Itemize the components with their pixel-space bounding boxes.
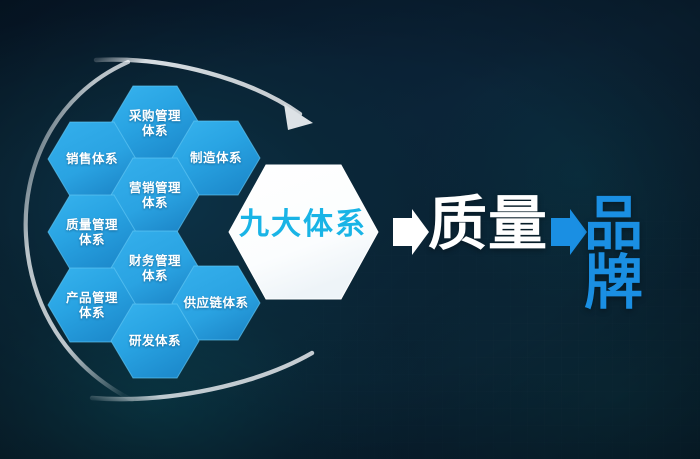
center-hexagon-label: 九大体系: [228, 210, 378, 240]
flow-arrow-white: [393, 209, 429, 255]
flow-step-brand: 品牌: [584, 194, 700, 312]
infographic-canvas: 采购管理 体系 销售体系 制造体系 营销管理 体系 质量管理 体系 财务管理 体…: [0, 0, 700, 459]
flow-step-quality: 质量: [428, 194, 548, 253]
flow-arrow-blue: [551, 209, 587, 255]
